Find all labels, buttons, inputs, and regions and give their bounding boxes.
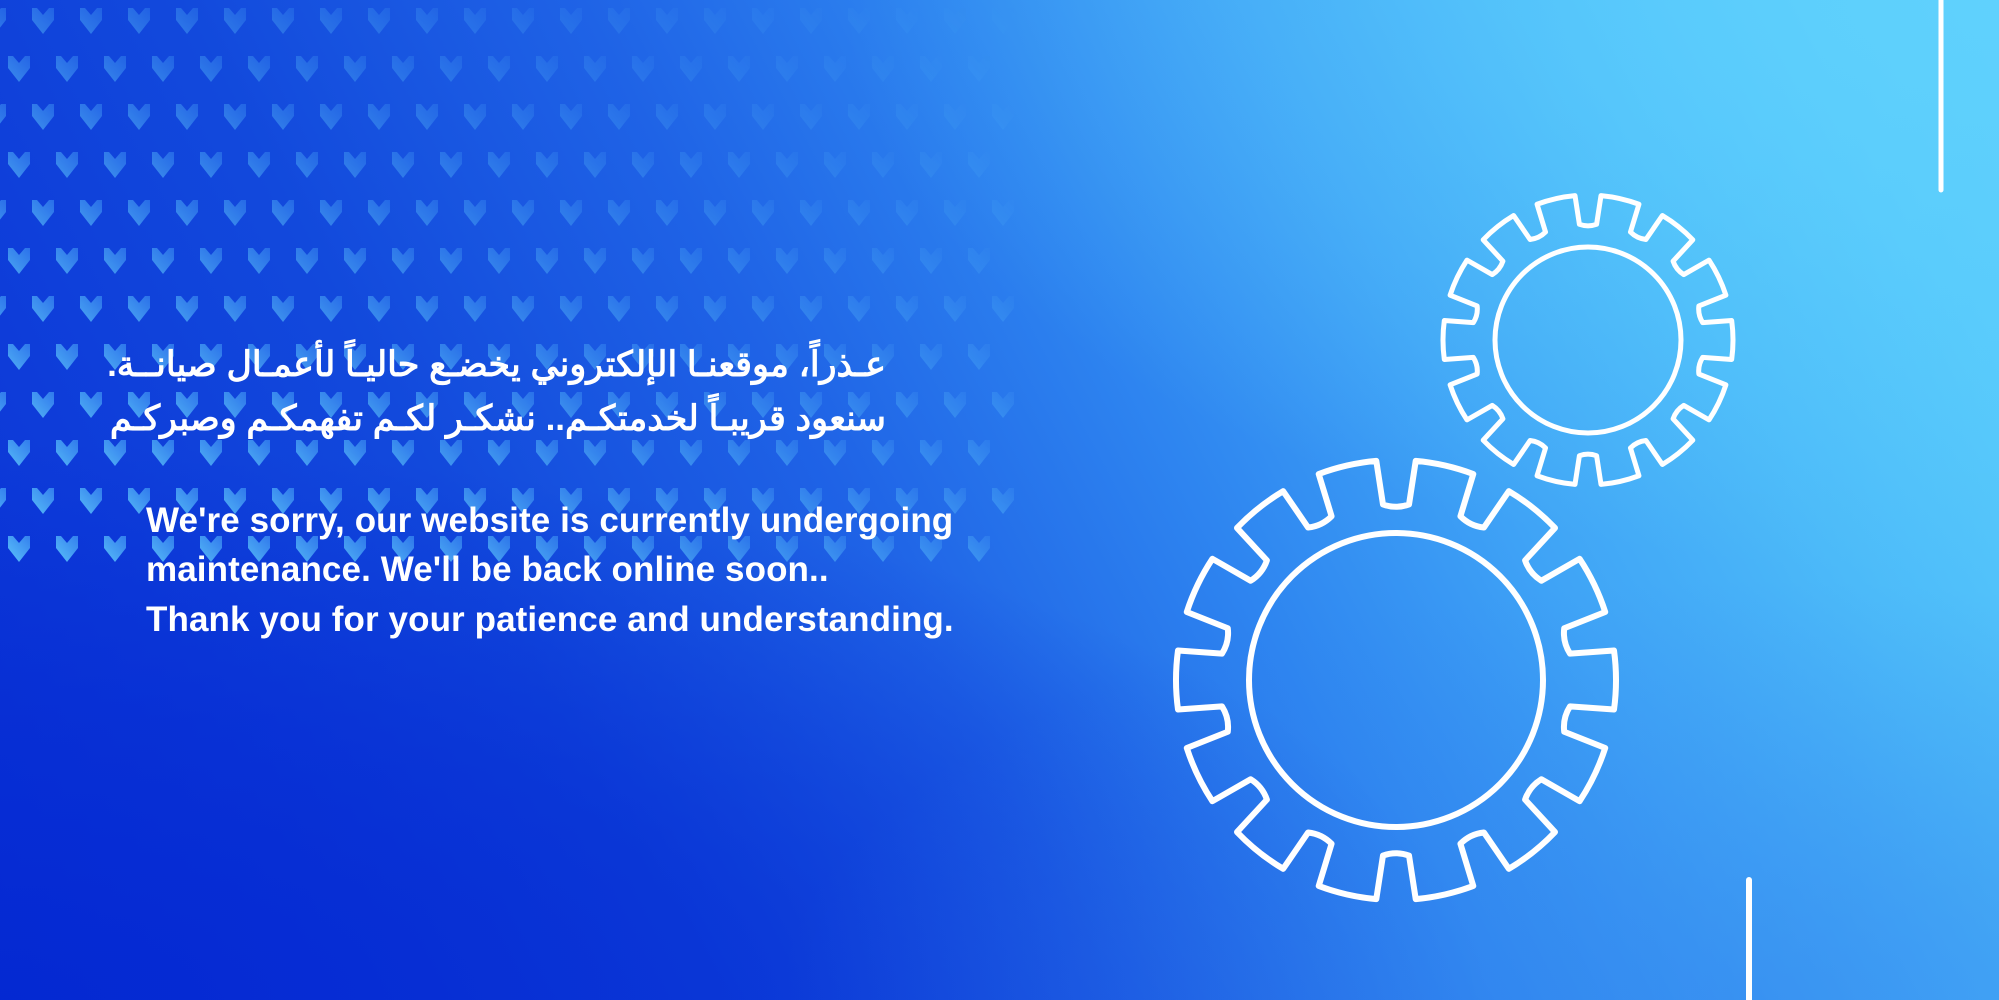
english-line-1: We're sorry, our website is currently un… bbox=[146, 496, 1166, 546]
gear-illustration bbox=[1099, 0, 1999, 1000]
large-gear-icon bbox=[1176, 461, 1616, 899]
arabic-message: عـذراً، موقعنـا الإلكتروني يخضـع حاليـاً… bbox=[146, 338, 886, 446]
english-line-2: maintenance. We'll be back online soon.. bbox=[146, 545, 1166, 595]
maintenance-page: عـذراً، موقعنـا الإلكتروني يخضـع حاليـاً… bbox=[0, 0, 1999, 1000]
small-gear-hub-icon bbox=[1495, 247, 1681, 433]
arabic-line-1: عـذراً، موقعنـا الإلكتروني يخضـع حاليـاً… bbox=[146, 338, 886, 392]
english-line-3: Thank you for your patience and understa… bbox=[146, 595, 1166, 645]
english-message: We're sorry, our website is currently un… bbox=[146, 496, 1166, 645]
small-gear-icon bbox=[1443, 196, 1733, 485]
arabic-line-2: سنعود قريبـاً لخدمتكـم.. نشكـر لكـم تفهم… bbox=[146, 392, 886, 446]
large-gear-hub-icon bbox=[1249, 533, 1543, 827]
maintenance-message: عـذراً، موقعنـا الإلكتروني يخضـع حاليـاً… bbox=[146, 338, 1166, 645]
